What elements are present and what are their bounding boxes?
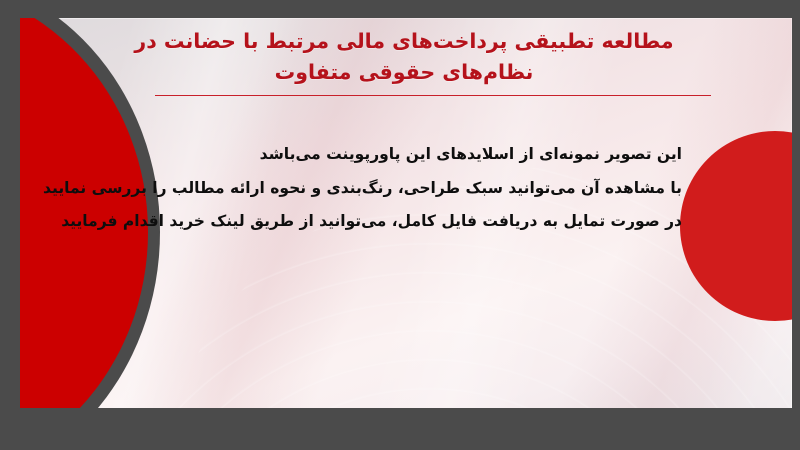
body-line-3: در صورت تمایل به دریافت فایل کامل، می‌تو… bbox=[82, 205, 682, 239]
title-divider-rule bbox=[155, 95, 711, 96]
presentation-slide: مطالعه تطبیقی پرداخت‌های مالی مرتبط با ح… bbox=[0, 0, 800, 450]
body-line-2: با مشاهده آن می‌توانید سبک طراحی، رنگ‌بن… bbox=[82, 172, 682, 206]
slide-canvas: مطالعه تطبیقی پرداخت‌های مالی مرتبط با ح… bbox=[20, 18, 792, 432]
slide-title-line-2: نظام‌های حقوقی متفاوت bbox=[124, 57, 684, 88]
slide-title-line-1: مطالعه تطبیقی پرداخت‌های مالی مرتبط با ح… bbox=[124, 26, 684, 57]
body-line-1: این تصویر نمونه‌ای از اسلایدهای این پاور… bbox=[82, 138, 682, 172]
bottom-dark-band bbox=[20, 408, 792, 432]
slide-title: مطالعه تطبیقی پرداخت‌های مالی مرتبط با ح… bbox=[124, 26, 684, 88]
slide-body-text: این تصویر نمونه‌ای از اسلایدهای این پاور… bbox=[82, 138, 682, 239]
red-circle-shape-right bbox=[680, 131, 792, 321]
